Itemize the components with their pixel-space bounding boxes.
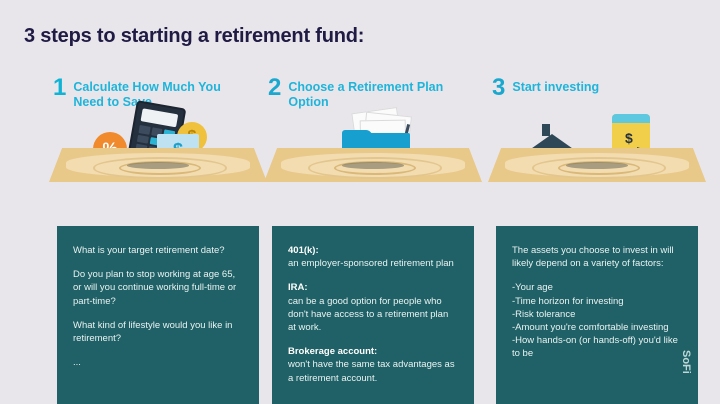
pedestal-hole xyxy=(566,162,627,169)
pedestal-top xyxy=(488,148,706,182)
step-1-text-panel: What is your target retirement date? Do … xyxy=(57,226,259,404)
step-column-1: 1 Calculate How Much You Need to Save % … xyxy=(53,78,263,404)
step-2-definition: an employer-sponsored retirement plan xyxy=(288,257,458,270)
sofi-logo: SoFi xyxy=(680,350,692,374)
step-2-title: Choose a Retirement Plan Option xyxy=(288,78,443,110)
step-3-text-panel: The assets you choose to invest in will … xyxy=(496,226,698,404)
page-title: 3 steps to starting a retirement fund: xyxy=(24,25,364,48)
step-column-3: 3 Start investing $ xyxy=(492,78,702,404)
step-column-2: 2 Choose a Retirement Plan Option 40 xyxy=(268,78,478,404)
calculator-screen xyxy=(141,108,179,127)
step-2-term-label: 401(k): xyxy=(288,245,319,256)
step-2-heading: 2 Choose a Retirement Plan Option xyxy=(268,78,443,110)
step-2-term: 401(k): xyxy=(288,244,458,257)
step-2-text-panel: 401(k): an employer-sponsored retirement… xyxy=(272,226,474,404)
pedestal-top xyxy=(49,148,267,182)
step-3-factor-list: -Your age -Time horizon for investing -R… xyxy=(512,281,682,360)
calculator-coins-bill-illustration: % $ $ xyxy=(53,114,263,194)
pedestal-hole xyxy=(342,162,403,169)
step-3-paragraph: The assets you choose to invest in will … xyxy=(512,244,682,270)
step-2-term-label: IRA: xyxy=(288,282,308,293)
calculator-key xyxy=(139,125,151,134)
step-2-term: Brokerage account: xyxy=(288,345,458,358)
step-1-illustration: % $ $ xyxy=(53,124,263,220)
step-3-heading: 3 Start investing xyxy=(492,78,642,98)
step-2-term: IRA: xyxy=(288,281,458,294)
step-1-paragraph: What kind of lifestyle would you like in… xyxy=(73,319,243,345)
phone-dollar-sign: $ xyxy=(625,130,633,146)
step-3-title: Start investing xyxy=(512,78,642,95)
step-1-paragraph: ... xyxy=(73,356,243,369)
house-car-chart-illustration: $ xyxy=(492,114,702,194)
phone-top-bar xyxy=(612,114,650,123)
step-2-term-label: Brokerage account: xyxy=(288,346,377,357)
step-3-illustration: $ xyxy=(492,124,702,220)
pedestal-hole xyxy=(127,162,188,169)
step-2-definition: can be a good option for people who don'… xyxy=(288,295,458,335)
step-3-number: 3 xyxy=(492,78,505,98)
infographic-page: 3 steps to starting a retirement fund: 1… xyxy=(0,0,720,404)
step-2-number: 2 xyxy=(268,78,281,98)
pedestal-top xyxy=(264,148,482,182)
step-2-illustration xyxy=(268,124,478,220)
step-2-definition: won't have the same tax advantages as a … xyxy=(288,358,458,384)
step-1-paragraph: What is your target retirement date? xyxy=(73,244,243,257)
folder-papers-illustration xyxy=(268,114,478,194)
step-1-paragraph: Do you plan to stop working at age 65, o… xyxy=(73,268,243,308)
calculator-key xyxy=(137,134,149,143)
step-1-number: 1 xyxy=(53,78,66,98)
